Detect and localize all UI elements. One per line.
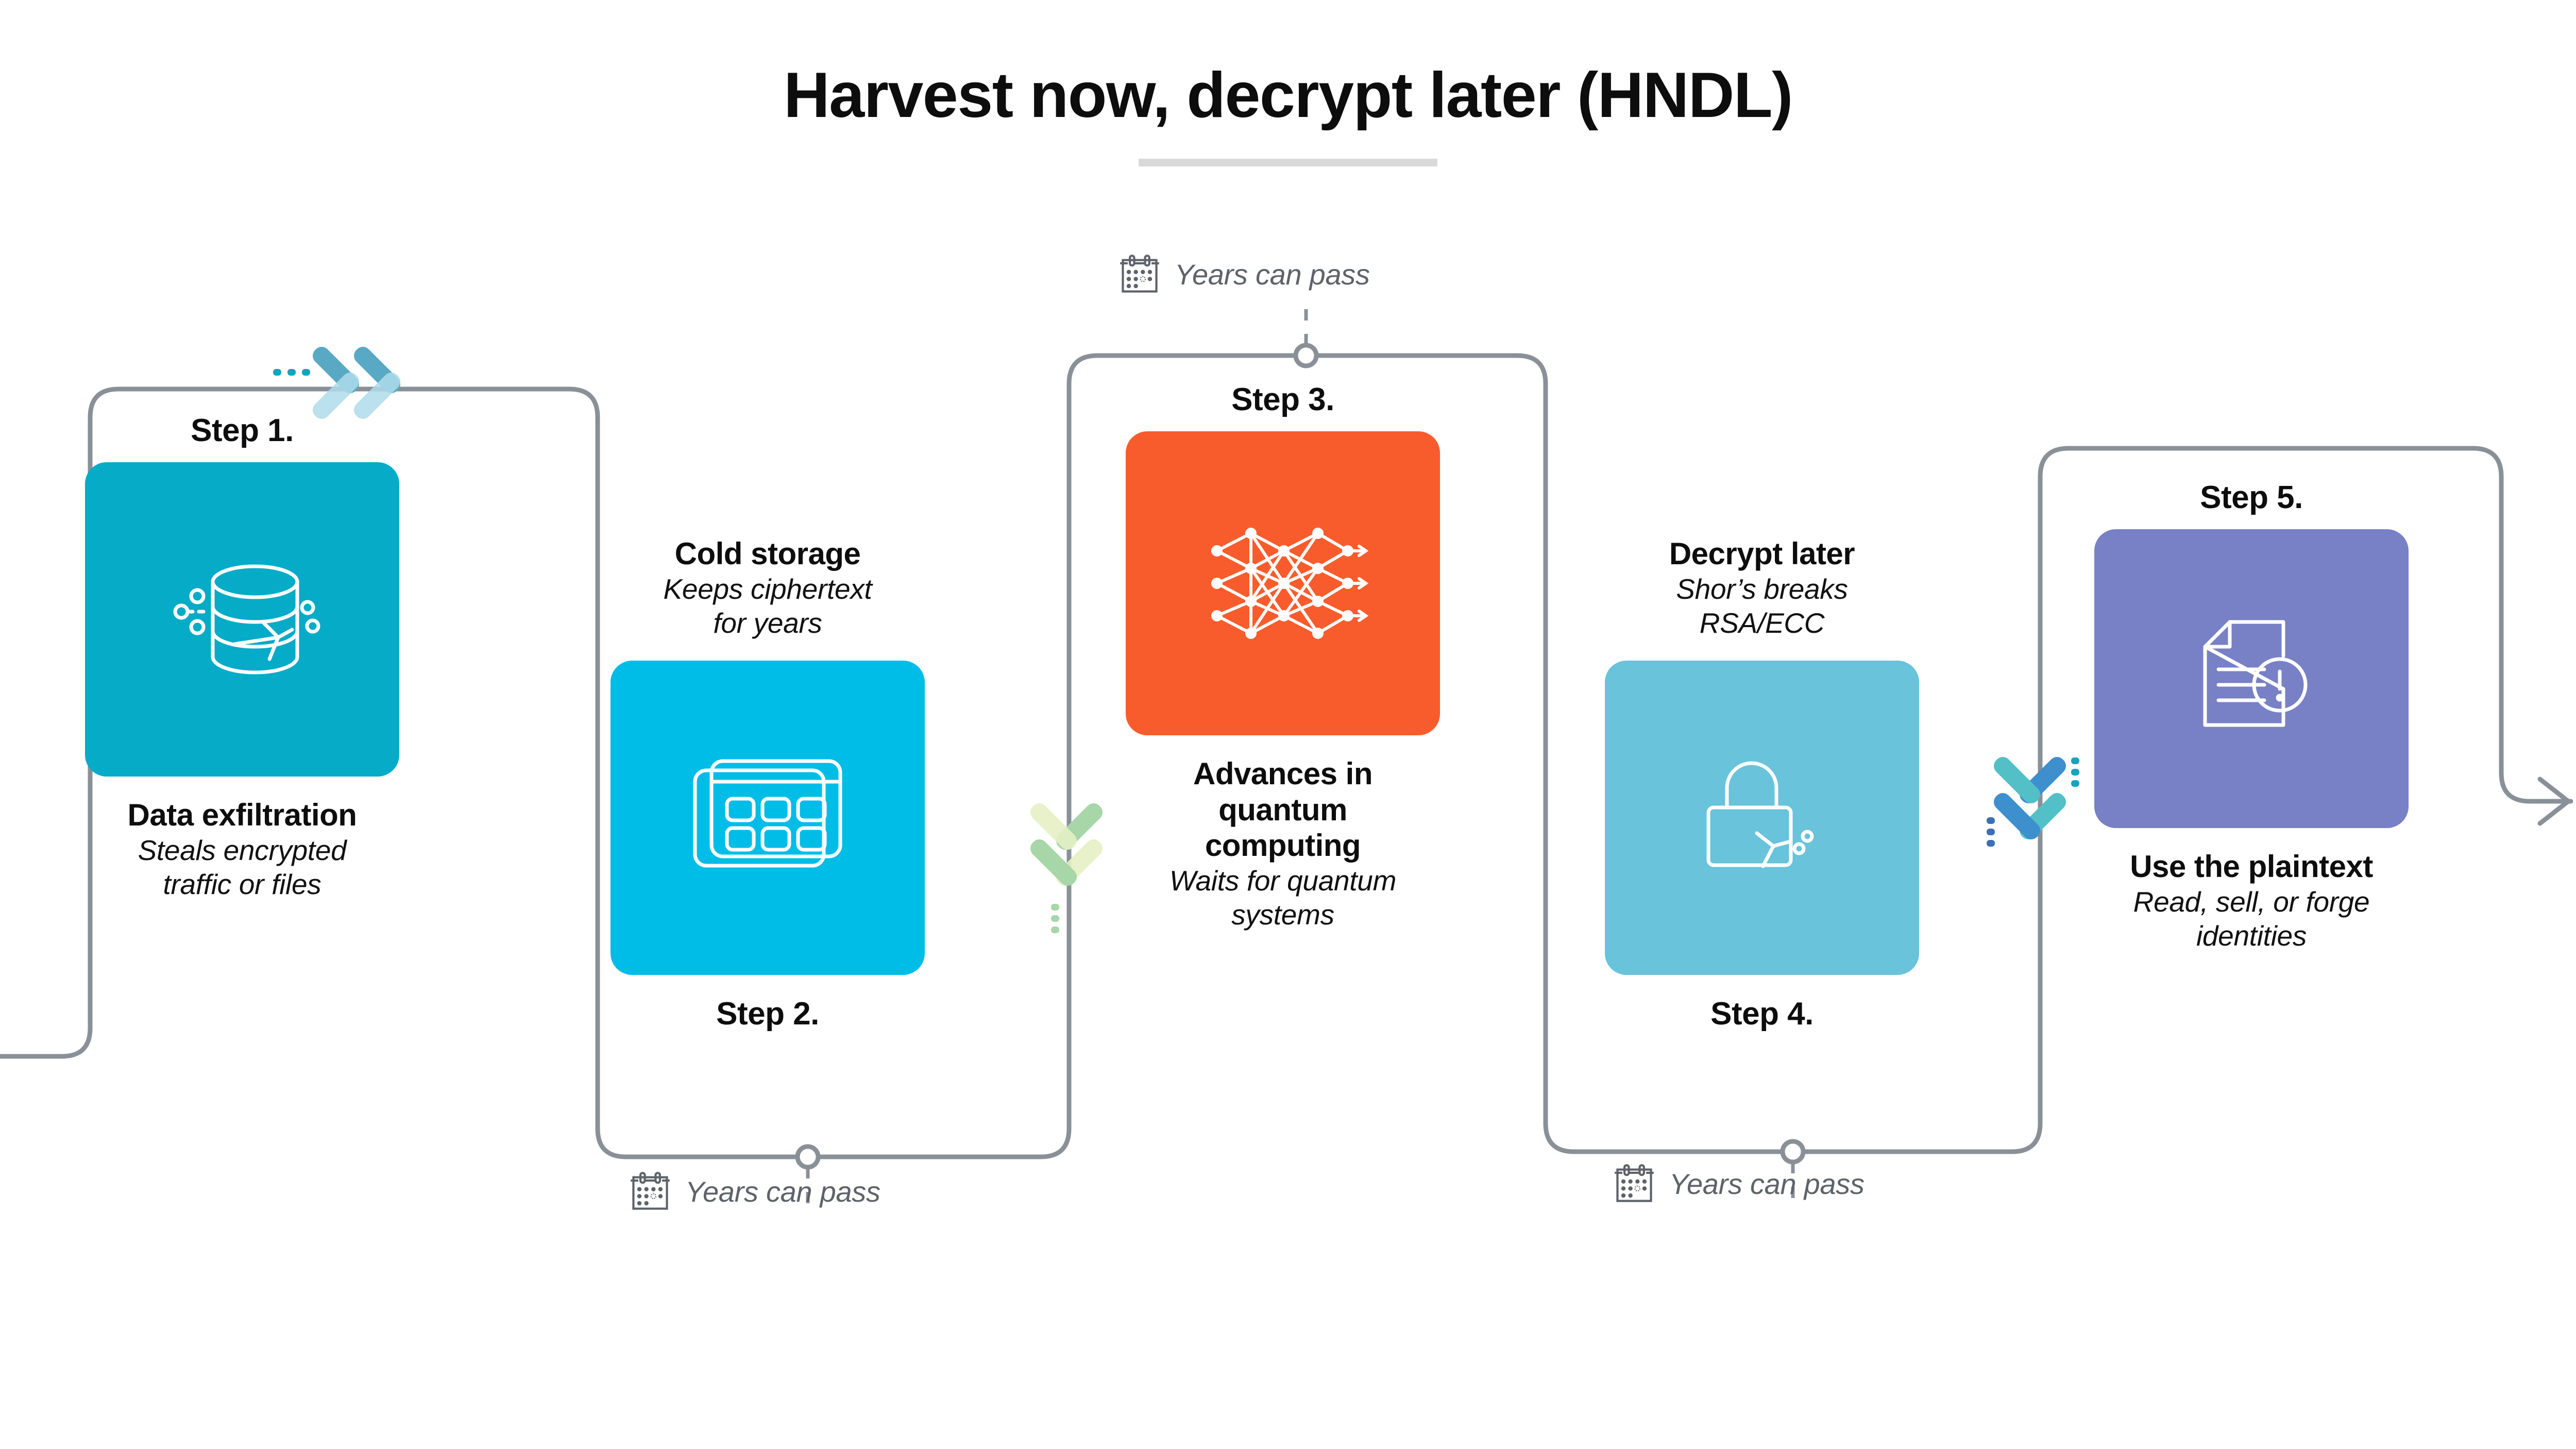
annotation-years-bottom-right: Years can pass	[1613, 1162, 1865, 1205]
step-5-sub-line-1: Read, sell, or forge	[2092, 885, 2411, 919]
annotation-anchor-dot	[798, 1147, 818, 1167]
step-2-tile	[611, 661, 925, 975]
step-5-sub-line-2: identities	[2092, 919, 2411, 953]
step-5-tile	[2094, 529, 2409, 828]
annotation-anchor-dot	[1783, 1141, 1803, 1162]
step-5-headline: Use the plaintext	[2092, 849, 2411, 885]
annotation-label: Years can pass	[1669, 1167, 1865, 1201]
step-1-sub-line-1: Steals encrypted	[82, 833, 402, 867]
annotation-label: Years can pass	[1175, 258, 1370, 291]
stacked-cards-icon	[683, 746, 853, 890]
annotation-label: Years can pass	[685, 1175, 880, 1208]
annotation-years-top: Years can pass	[1118, 252, 1370, 296]
step-2-sub-line-1: Keeps ciphertext	[608, 572, 927, 606]
diagram-canvas: Harvest now, decrypt later (HNDL)	[0, 0, 2576, 1449]
chevron-up-double-icon	[1025, 794, 1133, 940]
step-3-headline-line-2: quantum	[1123, 792, 1443, 828]
step-2-sub-line-2: for years	[608, 606, 927, 640]
calendar-icon	[1613, 1162, 1656, 1205]
annotation-years-bottom-left: Years can pass	[629, 1170, 880, 1213]
step-2-kicker: Step 2.	[608, 996, 927, 1032]
broken-padlock-icon	[1685, 740, 1839, 895]
database-breach-icon	[157, 545, 327, 694]
annotation-anchor-dot	[1296, 345, 1316, 366]
step-3-kicker: Step 3.	[1123, 381, 1443, 418]
step-4-sub-line-2: RSA/ECC	[1602, 606, 1922, 640]
step-1-headline: Data exfiltration	[82, 797, 402, 833]
step-card-1[interactable]: Step 1.	[82, 412, 402, 901]
calendar-icon	[1118, 252, 1161, 296]
step-4-headline: Decrypt later	[1602, 536, 1922, 572]
step-card-5[interactable]: Step 5. Use the plaintext Read, sell, or…	[2092, 479, 2411, 953]
step-3-sub-line-2: systems	[1123, 898, 1443, 932]
step-3-headline-line-1: Advances in	[1123, 756, 1443, 792]
step-card-4[interactable]: Decrypt later Shor’s breaks RSA/ECC Step…	[1602, 536, 1922, 1032]
step-4-sub-line-1: Shor’s breaks	[1602, 572, 1922, 606]
chevron-right-double-icon	[273, 335, 428, 441]
step-3-headline-line-3: computing	[1123, 828, 1443, 864]
step-4-kicker: Step 4.	[1602, 996, 1922, 1032]
neural-network-icon	[1195, 519, 1370, 648]
step-1-sub-line-2: traffic or files	[82, 867, 402, 901]
step-card-3[interactable]: Step 3. Advances in quant	[1123, 381, 1443, 932]
step-4-tile	[1605, 661, 1919, 975]
calendar-icon	[629, 1170, 672, 1213]
step-3-sub-line-1: Waits for quantum	[1123, 864, 1443, 898]
chevron-up-double-icon	[1984, 742, 2102, 889]
step-2-headline: Cold storage	[608, 536, 927, 572]
step-1-tile	[85, 462, 399, 777]
step-card-2[interactable]: Cold storage Keeps ciphertext for years	[608, 536, 927, 1032]
step-3-tile	[1126, 431, 1440, 735]
document-alert-icon	[2174, 606, 2329, 751]
step-5-kicker: Step 5.	[2092, 479, 2411, 516]
